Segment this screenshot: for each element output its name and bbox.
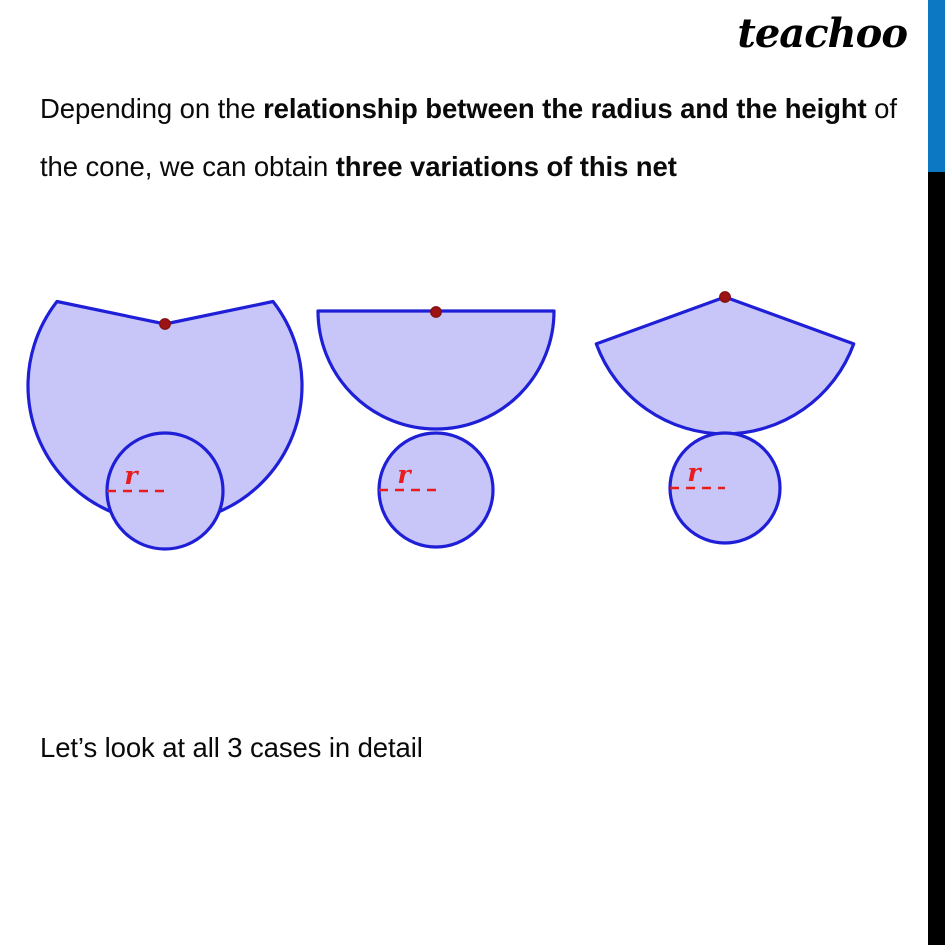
net-case-2-base-circle (379, 433, 493, 547)
right-edge-black-bar (928, 172, 945, 945)
intro-text-part1: Depending on the (40, 93, 263, 124)
net-case-2-group: r (318, 307, 554, 547)
net-case-2-radius-label: r (397, 460, 412, 489)
intro-emphasis-radius-height: relationship between the radius and the … (263, 93, 867, 124)
teachoo-logo: teachoo (737, 14, 907, 54)
net-case-1-radius-label: r (124, 461, 139, 490)
intro-emphasis-three-variations: three variations of this net (336, 151, 677, 182)
net-case-1-base-circle (107, 433, 223, 549)
right-edge-blue-bar (928, 0, 945, 172)
intro-paragraph: Depending on the relationship between th… (40, 80, 920, 196)
net-case-3-base-circle (670, 433, 780, 543)
net-case-3-radius-label: r (687, 458, 702, 487)
slide-canvas: teachoo Depending on the relationship be… (0, 0, 945, 945)
net-case-1-apex-dot (160, 319, 171, 330)
net-case-1-group: r (28, 302, 302, 550)
net-case-1-sector (28, 302, 302, 523)
net-case-3-apex-dot (720, 292, 731, 303)
closing-paragraph: Let’s look at all 3 cases in detail (40, 726, 423, 770)
net-case-3-group: r (596, 292, 853, 543)
net-case-2-sector (318, 311, 554, 429)
net-case-3-sector (596, 297, 853, 434)
net-case-2-apex-dot (431, 307, 442, 318)
